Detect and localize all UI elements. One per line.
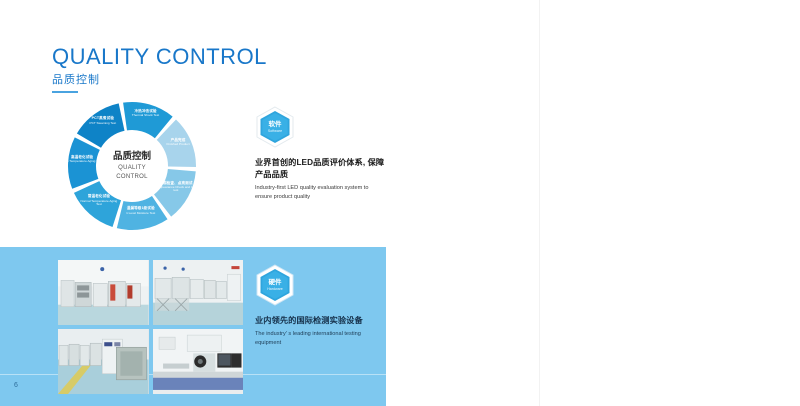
wheel-center-en-2: CONTROL (116, 173, 147, 181)
software-badge-cn: 软件 (269, 121, 282, 129)
hardware-caption-cn: 业内领先的国际检测实验设备 (255, 315, 387, 327)
hardware-badge: 硬件 Hardware (255, 264, 295, 306)
page-title-quality-control: QUALITY CONTROL 品质控制 (52, 44, 267, 93)
brochure-spread: QUALITY CONTROL 品质控制 品质控制 QUALITY CONTRO… (0, 0, 800, 406)
hardware-caption-block: 硬件 Hardware 业内领先的国际检测实验设备 The industry' … (255, 264, 387, 347)
software-caption-block: 软件 Software 业界首创的LED品质评价体系, 保障产品品质 Indus… (255, 106, 387, 201)
photo-aging-ovens-lab (153, 260, 244, 325)
hardware-badge-en: Hardware (267, 287, 283, 292)
wheel-center-cn: 品质控制 (113, 151, 151, 163)
lab-photo-grid (58, 260, 243, 394)
software-caption-cn: 业界首创的LED品质评价体系, 保障产品品质 (255, 157, 387, 181)
photo-test-chambers-row (58, 260, 149, 325)
software-badge-en: Software (268, 129, 282, 134)
software-caption-en: Industry-first LED quality evaluation sy… (255, 184, 387, 201)
wheel-center-en-1: QUALITY (118, 164, 146, 172)
title-underline (52, 91, 78, 93)
photo-uv-chamber-corridor (58, 329, 149, 394)
hardware-badge-text: 硬件 Hardware (255, 264, 295, 306)
page-title-en: QUALITY CONTROL (52, 44, 267, 70)
right-page: INNOVATION CAPACITY 创新能力 以博士为首的研发创新团队, 打… (540, 0, 800, 406)
photo-optical-measurement-bench (153, 329, 244, 394)
wheel-segment (68, 137, 100, 188)
hardware-badge-cn: 硬件 (269, 279, 282, 287)
page-number: 6 (14, 382, 18, 389)
page-title-cn: 品质控制 (52, 72, 267, 88)
software-badge: 软件 Software (255, 106, 295, 148)
software-badge-text: 软件 Software (255, 106, 295, 148)
quality-control-wheel: 品质控制 QUALITY CONTROL 冷热冲击试验Thermal Shock… (63, 100, 201, 232)
hardware-caption-en: The industry' s leading international te… (255, 330, 387, 347)
left-page: QUALITY CONTROL 品质控制 品质控制 QUALITY CONTRO… (0, 0, 540, 406)
wheel-center-label: 品质控制 QUALITY CONTROL (100, 134, 164, 198)
